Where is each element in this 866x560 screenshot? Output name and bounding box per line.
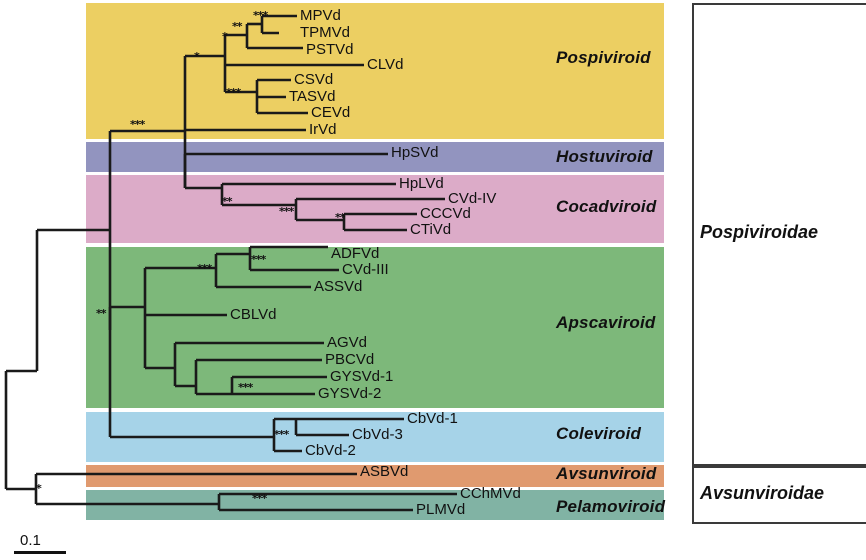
family-label: Pospiviroidae [700, 222, 818, 243]
tip-label-cbvd-1: CbVd-1 [407, 410, 458, 427]
genus-label-coleviroid: Coleviroid [556, 424, 641, 444]
tip-label-asbvd: ASBVd [360, 463, 408, 480]
support-value: * [36, 482, 41, 495]
support-value: * [222, 30, 227, 43]
genus-label-cocadviroid: Cocadviroid [556, 197, 656, 217]
tip-label-pbcvd: PBCVd [325, 351, 374, 368]
tip-label-gysvd-1: GYSVd-1 [330, 368, 393, 385]
tip-label-mpvd: MPVd [300, 7, 341, 24]
tip-label-cchmvd: CChMVd [460, 485, 521, 502]
support-value: *** [238, 381, 252, 394]
tip-label-tpmvd: TPMVd [300, 24, 350, 41]
support-value: *** [226, 86, 240, 99]
genus-label-pospiviroid: Pospiviroid [556, 48, 651, 68]
support-value: *** [251, 253, 265, 266]
support-value: *** [130, 118, 144, 131]
support-value: ** [232, 20, 242, 33]
scale-bar-line [14, 551, 66, 554]
support-value: ** [222, 195, 232, 208]
genus-label-avsunviroid: Avsunviroid [556, 464, 656, 484]
support-value: ** [96, 307, 106, 320]
tip-label-gysvd-2: GYSVd-2 [318, 385, 381, 402]
support-value: *** [253, 9, 267, 22]
support-value: * [194, 50, 199, 63]
tip-label-plmvd: PLMVd [416, 501, 465, 518]
family-label: Avsunviroidae [700, 483, 824, 504]
tip-label-ctivd: CTiVd [410, 221, 451, 238]
support-value: *** [279, 205, 293, 218]
support-value: *** [274, 428, 288, 441]
tip-label-cbvd-2: CbVd-2 [305, 442, 356, 459]
support-value: *** [197, 262, 211, 275]
tip-label-assvd: ASSVd [314, 278, 362, 295]
tip-label-tasvd: TASVd [289, 88, 335, 105]
tip-label-csvd: CSVd [294, 71, 333, 88]
tip-label-pstvd: PSTVd [306, 41, 354, 58]
phylogenetic-tree-figure: ************************************** M… [0, 0, 866, 560]
tip-label-irvd: IrVd [309, 121, 337, 138]
tip-label-clvd: CLVd [367, 56, 403, 73]
tip-label-cevd: CEVd [311, 104, 350, 121]
tip-label-hplvd: HpLVd [399, 175, 444, 192]
tip-label-cccvd: CCCVd [420, 205, 471, 222]
genus-label-pelamoviroid: Pelamoviroid [556, 497, 665, 517]
genus-label-apscaviroid: Apscaviroid [556, 313, 656, 333]
scale-bar-label: 0.1 [20, 532, 41, 549]
support-value: ** [335, 211, 345, 224]
tip-label-hpsvd: HpSVd [391, 144, 439, 161]
tip-label-adfvd: ADFVd [331, 245, 379, 262]
tip-label-cbvd-3: CbVd-3 [352, 426, 403, 443]
support-value: *** [252, 492, 266, 505]
genus-label-hostuviroid: Hostuviroid [556, 147, 653, 167]
tip-label-agvd: AGVd [327, 334, 367, 351]
tip-label-cblvd: CBLVd [230, 306, 276, 323]
tip-label-cvd-iii: CVd-III [342, 261, 389, 278]
